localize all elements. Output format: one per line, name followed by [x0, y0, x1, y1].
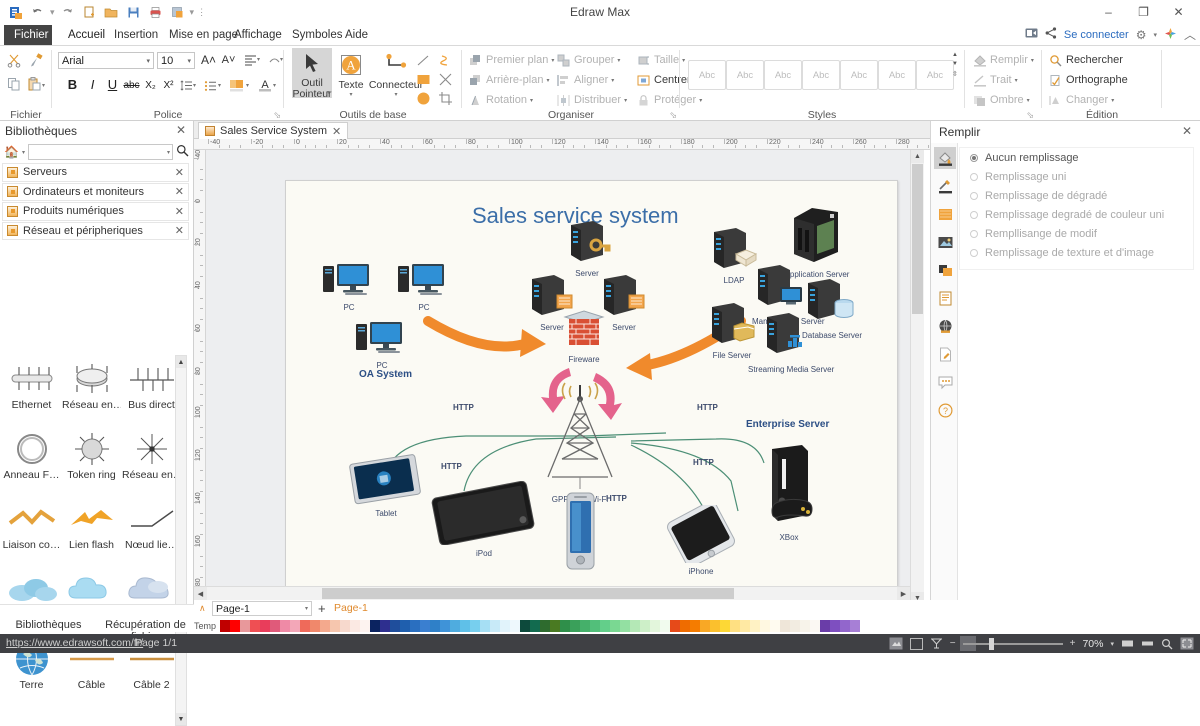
color-swatch[interactable]: [810, 620, 820, 632]
chevron-down-icon[interactable]: ▾: [184, 57, 191, 65]
home-icon[interactable]: 🏠: [4, 145, 19, 159]
fullscreen-icon[interactable]: [1180, 637, 1194, 650]
node-label: XBox: [758, 533, 820, 542]
node-streaming-media-server[interactable]: Streaming Media Server: [748, 311, 826, 374]
color-swatch[interactable]: [690, 620, 700, 632]
shadow-icon: [972, 93, 987, 108]
style-gallery-expand-icon[interactable]: ⇳: [952, 70, 958, 78]
shape-item-3[interactable]: Bus direct: [122, 359, 181, 411]
ruler-tick-label: 280: [898, 139, 910, 146]
scroll-left-icon[interactable]: ◀: [194, 587, 207, 600]
radio-icon[interactable]: [970, 249, 978, 257]
fit-width-icon[interactable]: [1121, 638, 1134, 649]
color-swatch[interactable]: [650, 620, 660, 632]
node-ipod[interactable]: iPod: [429, 481, 539, 558]
line-label: Trait: [990, 74, 1012, 86]
node-pc-1[interactable]: PC: [321, 261, 377, 312]
style-preview-1[interactable]: Abc: [688, 60, 726, 90]
group-button[interactable]: Grouper ▾: [556, 51, 620, 69]
color-swatch[interactable]: [280, 620, 290, 632]
tab-recuperation-fichier[interactable]: Récupération de fichier: [97, 605, 194, 632]
zone-label-enterprise-server: Enterprise Server: [746, 419, 829, 430]
fill-icon[interactable]: [934, 147, 956, 169]
copy-icon[interactable]: [6, 76, 23, 93]
close-icon[interactable]: ✕: [332, 125, 341, 138]
shadow-label: Ombre: [990, 94, 1024, 106]
font-size-combo[interactable]: 10 ▾: [157, 52, 195, 69]
rotate-icon: [468, 93, 483, 108]
ethernet-shape: [2, 359, 61, 399]
color-swatch[interactable]: [450, 620, 460, 632]
page-info: Page 1/1: [135, 637, 177, 649]
ruler-tick-label: 240: [812, 139, 824, 146]
style-scroll-down-icon[interactable]: ▼: [952, 61, 958, 67]
bullet-list-icon[interactable]: [202, 77, 219, 94]
color-swatch[interactable]: [850, 620, 860, 632]
style-preview-5[interactable]: Abc: [840, 60, 878, 90]
chevron-down-icon[interactable]: ▾: [530, 97, 533, 104]
color-swatch[interactable]: [630, 620, 640, 632]
node-server-key[interactable]: Server: [563, 219, 611, 278]
tab-aide[interactable]: Aide: [335, 25, 378, 45]
color-swatch[interactable]: [660, 620, 670, 632]
color-swatch[interactable]: [700, 620, 710, 632]
radio-icon[interactable]: [970, 192, 978, 200]
fit-page-icon[interactable]: [1141, 638, 1154, 649]
fill-option-6[interactable]: Remplissage de texture et d'image: [960, 243, 1193, 262]
fill-options-list: Aucun remplissageRemplissage uniRempliss…: [959, 147, 1194, 270]
library-category-label: Réseau et péripheriques: [23, 225, 143, 237]
color-swatch[interactable]: [800, 620, 810, 632]
color-swatch[interactable]: [380, 620, 390, 632]
shape-item-4[interactable]: Anneau F…: [2, 429, 61, 481]
shape-item-1[interactable]: Ethernet: [2, 359, 61, 411]
document-tab[interactable]: Sales Service System ✕: [198, 122, 348, 139]
font-size-value: 10: [161, 55, 184, 67]
ribbon: ▾ Fichier Arial ▾ 10 ▾ A˄ A˅ ▾ ▾ B: [0, 45, 1200, 121]
color-swatch[interactable]: [570, 620, 580, 632]
font-family-value: Arial: [62, 55, 143, 67]
group-title-edition: Édition: [1042, 109, 1162, 121]
node-antenna-tower[interactable]: GPRS/3G/Wi-Fi: [538, 381, 622, 504]
color-swatch[interactable]: [750, 620, 760, 632]
library-category-label: Produits numériques: [23, 205, 124, 217]
drawing-page[interactable]: Sales service system OA System Enterpris…: [285, 180, 898, 597]
chevron-down-icon[interactable]: ▾: [611, 77, 614, 84]
fill-panel-icon-strip: ?: [931, 143, 958, 605]
color-swatch[interactable]: [760, 620, 770, 632]
strikethrough-button[interactable]: abc: [123, 77, 140, 94]
shape-item-8[interactable]: Lien flash: [62, 499, 121, 551]
page-selector-value: Page-1: [216, 603, 250, 615]
chevron-down-icon[interactable]: ▾: [546, 77, 549, 84]
color-swatch[interactable]: [240, 620, 250, 632]
status-right-tools: − + 70% ▾: [889, 634, 1194, 653]
gear-icon[interactable]: ⚙: [1136, 28, 1147, 42]
tab-fichier[interactable]: Fichier: [4, 25, 52, 45]
ribbon-group-police: Arial ▾ 10 ▾ A˄ A˅ ▾ ▾ B I U abc X₂ X²: [52, 46, 284, 122]
style-preview-6[interactable]: Abc: [878, 60, 916, 90]
color-swatch[interactable]: [620, 620, 630, 632]
italic-button[interactable]: I: [84, 76, 101, 93]
view-normal-icon[interactable]: [889, 637, 903, 650]
grow-font-icon[interactable]: A˄: [200, 51, 217, 68]
color-swatch[interactable]: [460, 620, 470, 632]
color-swatch[interactable]: [480, 620, 490, 632]
shape-item-9[interactable]: Nœud lie…: [122, 499, 181, 551]
color-swatch[interactable]: [790, 620, 800, 632]
line-icon[interactable]: [934, 175, 956, 197]
rectangle-shape-icon[interactable]: [415, 71, 432, 88]
format-painter-icon[interactable]: [28, 52, 45, 69]
organiser-dialog-launcher[interactable]: ⬂: [669, 110, 677, 121]
chevron-down-icon[interactable]: ▾: [551, 57, 554, 64]
color-swatch[interactable]: [330, 620, 340, 632]
close-icon[interactable]: ✕: [175, 185, 184, 198]
group-title-outils: Outils de base: [284, 109, 462, 121]
scroll-up-icon[interactable]: ▲: [911, 150, 924, 163]
node-label: Streaming Media Server: [748, 365, 826, 374]
shrink-font-icon[interactable]: A˅: [220, 51, 237, 68]
fill-option-4[interactable]: Remplissage degradé de couleur uni: [960, 205, 1193, 224]
spellcheck-button[interactable]: Orthographe: [1048, 71, 1128, 89]
ruler-tick-label: 200: [726, 139, 738, 146]
align-dropdown-icon[interactable]: ▾: [257, 56, 260, 63]
color-swatch[interactable]: [560, 620, 570, 632]
styles-dialog-launcher[interactable]: ⬂: [1026, 110, 1034, 121]
align-icon: [556, 73, 571, 88]
style-preview-4[interactable]: Abc: [802, 60, 840, 90]
node-label: PC: [354, 361, 410, 370]
properties-icon[interactable]: [934, 287, 956, 309]
color-swatch[interactable]: [580, 620, 590, 632]
color-swatch[interactable]: [540, 620, 550, 632]
chevron-down-icon[interactable]: ▾: [1027, 97, 1030, 104]
search-button[interactable]: Rechercher: [1048, 51, 1123, 69]
subscript-button[interactable]: X₂: [142, 77, 159, 94]
ruler-tick-label: 100: [511, 139, 523, 146]
color-swatch[interactable]: [350, 620, 360, 632]
color-swatch[interactable]: [400, 620, 410, 632]
zone-label-oa-system: OA System: [359, 369, 412, 380]
paste-dropdown-icon[interactable]: ▾: [42, 82, 45, 89]
comm-link-shape: [2, 499, 61, 539]
color-swatch[interactable]: [730, 620, 740, 632]
connection-label-http-2: HTTP: [441, 462, 462, 471]
bullet-list-dropdown-icon[interactable]: ▾: [218, 82, 221, 89]
color-swatch[interactable]: [410, 620, 420, 632]
scroll-right-icon[interactable]: ▶: [897, 587, 910, 600]
shape-item-label: Lien flash: [62, 539, 121, 551]
crop-shape-icon[interactable]: [437, 90, 454, 107]
color-swatch[interactable]: [250, 620, 260, 632]
minimize-button[interactable]: –: [1091, 2, 1126, 22]
ellipse-shape-icon[interactable]: [415, 90, 432, 107]
chevron-down-icon[interactable]: ▾: [1031, 57, 1034, 64]
shape-item-label: Liaison co…: [2, 539, 61, 551]
color-swatch[interactable]: [820, 620, 830, 632]
close-icon[interactable]: ✕: [175, 224, 184, 237]
color-swatch[interactable]: [290, 620, 300, 632]
color-swatch[interactable]: [840, 620, 850, 632]
shape-item-label: Réseau en…: [122, 469, 181, 481]
color-swatch-icon[interactable]: [934, 203, 956, 225]
style-preview-label: Abc: [927, 70, 943, 81]
library-category-1[interactable]: Serveurs✕: [2, 163, 189, 182]
chevron-down-icon[interactable]: ▾: [624, 97, 627, 104]
line-icon: [972, 73, 987, 88]
node-pc-3[interactable]: PC: [354, 319, 410, 370]
color-swatch[interactable]: [390, 620, 400, 632]
pointer-tool[interactable]: Outil Pointeur: [292, 48, 332, 100]
shape-item-2[interactable]: Réseau en…: [62, 359, 121, 411]
close-icon[interactable]: ✕: [176, 123, 186, 137]
canvas-area[interactable]: Sales service system OA System Enterpris…: [206, 150, 918, 605]
style-scroll-up-icon[interactable]: ▲: [952, 52, 958, 58]
style-preview-7[interactable]: Abc: [916, 60, 954, 90]
chevron-down-icon[interactable]: ▾: [143, 57, 150, 65]
shadow-icon[interactable]: [934, 259, 956, 281]
shape-item-label: Ethernet: [2, 399, 61, 411]
close-icon[interactable]: ✕: [175, 166, 184, 179]
page-icon[interactable]: [934, 343, 956, 365]
chevron-down-icon[interactable]: ▾: [1015, 77, 1018, 84]
fill-option-2[interactable]: Remplissage uni: [960, 167, 1193, 186]
color-swatch[interactable]: [260, 620, 270, 632]
chevron-down-icon[interactable]: ▾: [1111, 97, 1114, 104]
collapse-ribbon-icon[interactable]: ︿: [1184, 26, 1196, 43]
size-button[interactable]: Taille ▾: [636, 51, 685, 69]
add-page-button[interactable]: +: [318, 601, 326, 616]
comment-icon[interactable]: [934, 371, 956, 393]
shape-item-6[interactable]: Réseau en…: [122, 429, 181, 481]
color-swatch[interactable]: [440, 620, 450, 632]
library-category-label: Ordinateurs et moniteurs: [23, 186, 144, 198]
fill-icon: [972, 53, 987, 68]
radio-icon[interactable]: [970, 230, 978, 238]
tab-bibliotheques[interactable]: Bibliothèques: [0, 605, 97, 632]
font-color-dropdown-icon[interactable]: ▾: [273, 82, 276, 89]
police-dialog-launcher[interactable]: ⬂: [273, 110, 281, 121]
cross-shape-icon[interactable]: [437, 71, 454, 88]
ruler-tick-label: 0: [296, 139, 300, 146]
align-button[interactable]: Aligner ▾: [556, 71, 614, 89]
scroll-down-icon[interactable]: ▼: [176, 713, 186, 725]
node-xbox[interactable]: XBox: [758, 441, 820, 542]
document-icon: [205, 126, 215, 136]
screenshot-icon[interactable]: [1025, 27, 1038, 42]
search-icon[interactable]: [176, 144, 189, 160]
rotate-button[interactable]: Rotation ▾: [468, 91, 533, 109]
website-link[interactable]: https://www.edrawsoft.com/fr/: [6, 637, 143, 649]
color-swatch[interactable]: [830, 620, 840, 632]
close-button[interactable]: ✕: [1161, 2, 1196, 22]
bring-to-front-icon: [468, 53, 483, 68]
vertical-scroll-thumb[interactable]: [912, 164, 923, 314]
fill-button[interactable]: Remplir ▾: [972, 51, 1034, 69]
zoom-slider-handle[interactable]: [989, 638, 994, 650]
color-swatch[interactable]: [370, 620, 380, 632]
color-swatch[interactable]: [270, 620, 280, 632]
color-swatch[interactable]: [720, 620, 730, 632]
node-label: PC: [396, 303, 452, 312]
image-fill-icon[interactable]: [934, 231, 956, 253]
color-swatch[interactable]: [220, 620, 230, 632]
canvas-horizontal-scrollbar[interactable]: ◀ ▶: [194, 586, 910, 600]
superscript-button[interactable]: X²: [160, 77, 177, 94]
color-swatch[interactable]: [510, 620, 520, 632]
distribute-button[interactable]: Distribuer ▾: [556, 91, 627, 109]
fill-option-3[interactable]: Remplissage de dégradé: [960, 186, 1193, 205]
fill-option-1[interactable]: Aucun remplissage: [960, 148, 1193, 167]
curve-shape-icon[interactable]: [437, 52, 454, 69]
bring-to-front-label: Premier plan: [486, 54, 548, 66]
line-shape-icon[interactable]: [415, 52, 432, 69]
help-icon[interactable]: ?: [934, 399, 956, 421]
color-swatch[interactable]: [680, 620, 690, 632]
node-firewall[interactable]: Fireware: [560, 305, 608, 364]
cut-icon[interactable]: [6, 52, 23, 69]
color-swatch[interactable]: [740, 620, 750, 632]
color-palette-bar[interactable]: Temp: [194, 617, 1200, 634]
view-full-page-icon[interactable]: [910, 638, 923, 650]
node-iphone[interactable]: iPhone: [658, 505, 744, 576]
font-color-icon[interactable]: A: [256, 76, 273, 93]
size-label: Taille: [654, 54, 679, 66]
share-icon[interactable]: [1045, 27, 1057, 42]
node-label: Fireware: [560, 355, 608, 364]
spellcheck-label: Orthographe: [1066, 74, 1128, 86]
color-swatch[interactable]: [420, 620, 430, 632]
library-icon: [7, 167, 18, 178]
text-tool-label: Texte: [336, 80, 366, 91]
color-swatch[interactable]: [770, 620, 780, 632]
chevron-down-icon[interactable]: ▾: [617, 57, 620, 64]
color-swatch[interactable]: [470, 620, 480, 632]
text-highlight-icon[interactable]: [228, 77, 245, 94]
colorful-app-icon[interactable]: [1164, 27, 1177, 43]
color-swatch[interactable]: [550, 620, 560, 632]
color-swatch[interactable]: [310, 620, 320, 632]
color-swatch[interactable]: [430, 620, 440, 632]
zoom-slider[interactable]: [963, 638, 1063, 650]
paste-icon[interactable]: [26, 76, 43, 93]
radio-icon[interactable]: [970, 211, 978, 219]
color-swatch[interactable]: [590, 620, 600, 632]
highlight-dropdown-icon[interactable]: ▾: [246, 82, 249, 89]
line-button[interactable]: Trait ▾: [972, 71, 1018, 89]
color-swatch[interactable]: [320, 620, 330, 632]
page-tab-page-1[interactable]: Page-1: [334, 602, 368, 614]
zoom-in-button[interactable]: +: [1070, 638, 1076, 649]
collapse-icon[interactable]: ∧: [199, 603, 206, 614]
zoom-search-icon[interactable]: [1161, 638, 1173, 650]
gear-dropdown-icon[interactable]: ▾: [1153, 31, 1157, 39]
zoom-dropdown-icon[interactable]: ▾: [1110, 640, 1114, 648]
sign-in-link[interactable]: Se connecter: [1064, 29, 1129, 41]
svg-text:?: ?: [942, 406, 947, 416]
align-label: Aligner: [574, 74, 608, 86]
library-category-3[interactable]: Produits numériques✕: [2, 202, 189, 221]
ruler-tick-label: 120: [554, 139, 566, 146]
fill-option-label: Remplissage degradé de couleur uni: [985, 209, 1164, 221]
node-pc-2[interactable]: PC: [396, 261, 452, 312]
style-preview-3[interactable]: Abc: [764, 60, 802, 90]
view-presentation-icon[interactable]: [930, 637, 943, 650]
replace-button[interactable]: Changer ▾: [1048, 91, 1114, 109]
horizontal-scroll-thumb[interactable]: [322, 588, 734, 599]
window-controls: – ❐ ✕: [1091, 2, 1196, 22]
color-swatch[interactable]: [360, 620, 370, 632]
bold-button[interactable]: B: [64, 76, 81, 93]
chevron-down-icon[interactable]: ▾: [167, 149, 170, 156]
color-swatch[interactable]: [520, 620, 530, 632]
library-search-input[interactable]: ▾: [28, 144, 173, 160]
color-swatch[interactable]: [300, 620, 310, 632]
vertical-ruler: -40020406080100120140160180: [194, 150, 206, 605]
ruler-tick-label: 140: [597, 139, 609, 146]
color-swatch[interactable]: [780, 620, 790, 632]
font-family-combo[interactable]: Arial ▾: [58, 52, 154, 69]
shadow-button[interactable]: Ombre ▾: [972, 91, 1030, 109]
style-gallery-scroll[interactable]: ▲ ▼ ⇳: [952, 52, 958, 78]
color-swatch[interactable]: [230, 620, 240, 632]
globe-icon[interactable]: [934, 315, 956, 337]
color-swatch[interactable]: [500, 620, 510, 632]
underline-button[interactable]: U: [104, 76, 121, 93]
color-swatch[interactable]: [490, 620, 500, 632]
zoom-out-button[interactable]: −: [950, 638, 956, 649]
center-icon: [636, 73, 651, 88]
color-swatch[interactable]: [670, 620, 680, 632]
text-tool[interactable]: A Texte ▾: [336, 50, 366, 98]
node-smartphone[interactable]: [554, 491, 606, 574]
style-preview-2[interactable]: Abc: [726, 60, 764, 90]
edraw-app-window: ▾ ▾ ⋮ Edraw Max – ❐: [0, 0, 1200, 653]
color-swatch[interactable]: [710, 620, 720, 632]
text-tool-dropdown-icon[interactable]: ▾: [336, 91, 366, 98]
library-category-4[interactable]: Réseau et péripheriques✕: [2, 222, 189, 241]
page-selector-combo[interactable]: Page-1 ▾: [212, 601, 312, 616]
close-icon[interactable]: ✕: [175, 205, 184, 218]
shape-grid-scrollbar[interactable]: ▲ ▼: [175, 355, 187, 726]
maximize-button[interactable]: ❐: [1126, 2, 1161, 22]
color-swatch[interactable]: [610, 620, 620, 632]
color-swatch[interactable]: [600, 620, 610, 632]
lock-icon: [636, 93, 651, 108]
shape-item-7[interactable]: Liaison co…: [2, 499, 61, 551]
chevron-down-icon[interactable]: ▾: [305, 605, 308, 612]
color-swatch[interactable]: [340, 620, 350, 632]
library-category-2[interactable]: Ordinateurs et moniteurs✕: [2, 183, 189, 202]
node-tablet[interactable]: Tablet: [346, 453, 426, 518]
radio-icon[interactable]: [970, 154, 978, 162]
shape-item-5[interactable]: Token ring: [62, 429, 121, 481]
canvas-vertical-scrollbar[interactable]: ▲ ▼: [910, 150, 924, 605]
radio-icon[interactable]: [970, 173, 978, 181]
home-dropdown-icon[interactable]: ▾: [22, 149, 25, 156]
pointer-dropdown-icon[interactable]: ▾: [327, 89, 330, 96]
scroll-up-icon[interactable]: ▲: [176, 356, 186, 368]
fill-option-5[interactable]: Rempllisange de modif: [960, 224, 1193, 243]
line-spacing-dropdown-icon[interactable]: ▾: [193, 82, 196, 89]
bring-to-front-button[interactable]: Premier plan ▾: [468, 51, 554, 69]
color-swatch[interactable]: [530, 620, 540, 632]
color-swatch[interactable]: [640, 620, 650, 632]
close-icon[interactable]: ✕: [1182, 124, 1192, 138]
shape-item-label: Bus direct: [122, 399, 181, 411]
send-to-back-button[interactable]: Arrière-plan ▾: [468, 71, 549, 89]
